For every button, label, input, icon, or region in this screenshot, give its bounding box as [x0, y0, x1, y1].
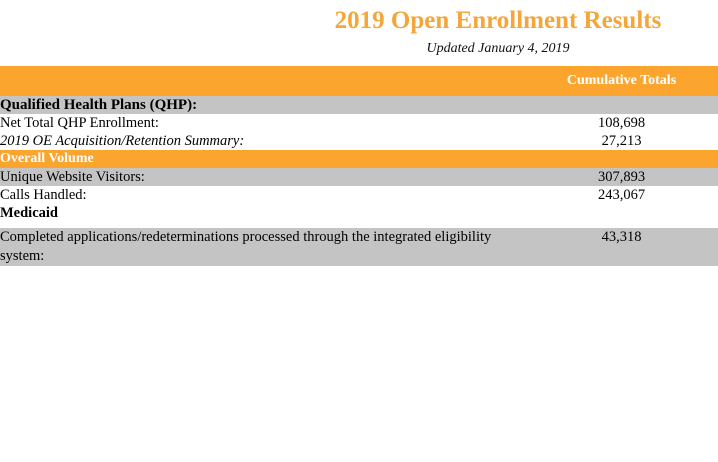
section-header-medicaid-value	[525, 204, 718, 222]
table-row: Net Total QHP Enrollment: 108,698	[0, 114, 718, 132]
row-label-net-total-qhp-enrollment: Net Total QHP Enrollment:	[0, 114, 525, 132]
row-value-calls-handled: 243,067	[525, 186, 718, 204]
section-header-medicaid: Medicaid	[0, 204, 525, 222]
page-title: 2019 Open Enrollment Results	[288, 7, 708, 35]
table-row: Unique Website Visitors: 307,893	[0, 168, 718, 186]
row-value-unique-website-visitors: 307,893	[525, 168, 718, 186]
row-value-oe-acquisition-retention-summary: 27,213	[525, 132, 718, 150]
table-row: Completed applications/redeterminations …	[0, 228, 718, 266]
row-label-completed-applications-redeterminations: Completed applications/redeterminations …	[0, 228, 525, 266]
table-row: 2019 OE Acquisition/Retention Summary: 2…	[0, 132, 718, 150]
column-header-blank-cell	[0, 66, 525, 96]
table-row: Medicaid	[0, 204, 718, 222]
page-subtitle-updated-date: Updated January 4, 2019	[288, 40, 708, 57]
section-header-overall-volume: Overall Volume	[0, 150, 525, 168]
table-row: Qualified Health Plans (QHP):	[0, 96, 718, 114]
section-header-overall-volume-value	[525, 150, 718, 168]
column-header-cumulative-totals: Cumulative Totals	[525, 66, 718, 96]
row-value-completed-applications-redeterminations: 43,318	[525, 228, 718, 266]
row-label-oe-acquisition-retention-summary: 2019 OE Acquisition/Retention Summary:	[0, 132, 525, 150]
table-row: Overall Volume	[0, 150, 718, 168]
table-column-header-row: Cumulative Totals	[0, 66, 718, 96]
section-header-qhp: Qualified Health Plans (QHP):	[0, 96, 525, 114]
section-header-qhp-value	[525, 96, 718, 114]
row-value-net-total-qhp-enrollment: 108,698	[525, 114, 718, 132]
table-row: Calls Handled: 243,067	[0, 186, 718, 204]
row-label-unique-website-visitors: Unique Website Visitors:	[0, 168, 525, 186]
row-label-calls-handled: Calls Handled:	[0, 186, 525, 204]
enrollment-results-table: Cumulative Totals Qualified Health Plans…	[0, 66, 718, 266]
document-header: 2019 Open Enrollment Results Updated Jan…	[0, 0, 718, 66]
